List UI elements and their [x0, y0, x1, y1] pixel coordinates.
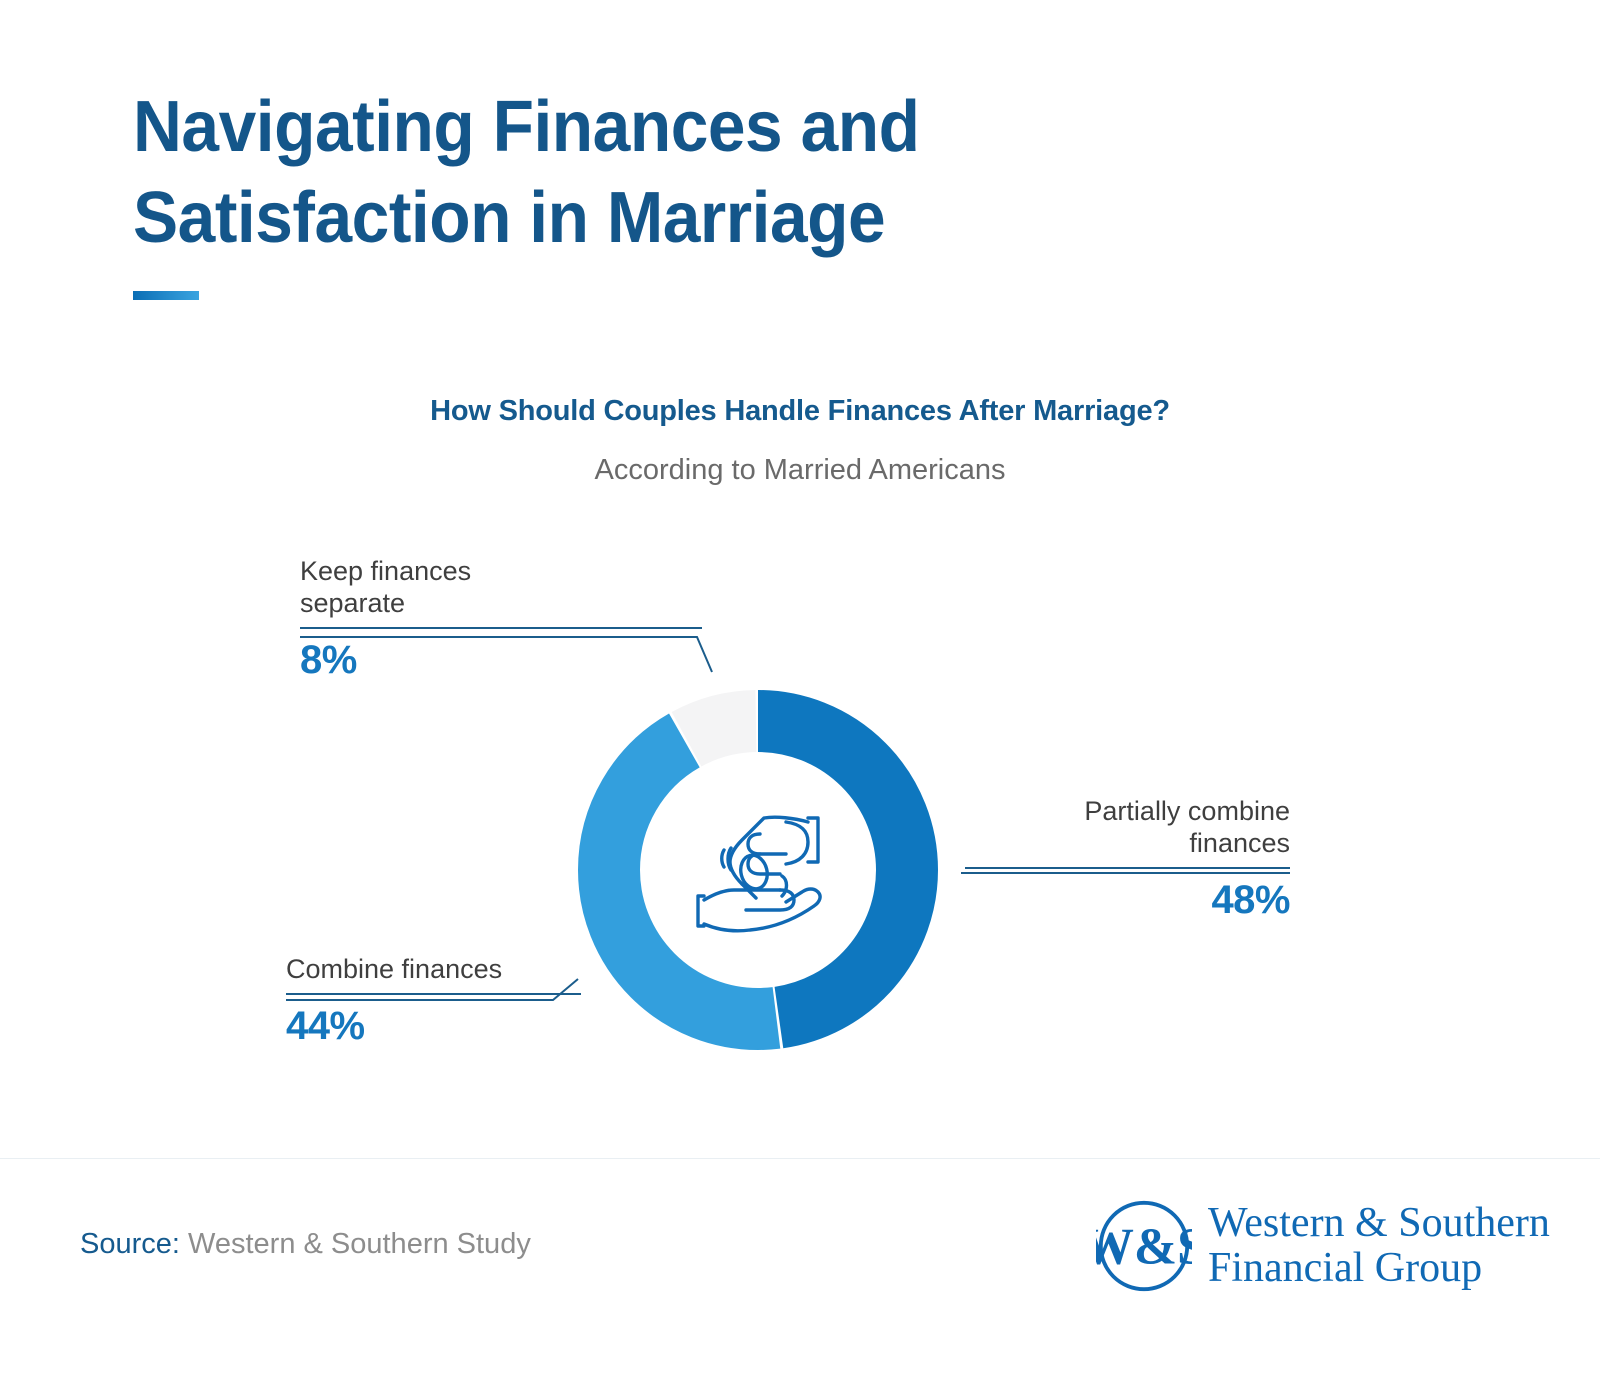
callout-value: 44%: [286, 1004, 581, 1049]
chart-heading: How Should Couples Handle Finances After…: [0, 395, 1600, 487]
chart-title: How Should Couples Handle Finances After…: [0, 395, 1600, 428]
footer-divider: [0, 1158, 1600, 1159]
company-logo: W&S Western & Southern Financial Group: [1096, 1198, 1550, 1294]
callout-label: Keep finances separate: [300, 556, 702, 620]
callout-rule: [286, 993, 581, 995]
source-label: Source:: [80, 1228, 188, 1260]
callout-combine-finances: Combine finances 44%: [286, 954, 581, 1049]
callout-label: Combine finances: [286, 954, 581, 986]
callout-rule: [965, 867, 1290, 869]
infographic-page: Navigating Finances and Satisfaction in …: [0, 0, 1600, 1378]
callout-value: 48%: [965, 878, 1290, 923]
title-accent-rule: [133, 291, 199, 300]
source-text: Western & Southern Study: [188, 1228, 531, 1260]
header: Navigating Finances and Satisfaction in …: [133, 82, 1233, 300]
ws-monogram-icon: W&S: [1096, 1198, 1192, 1294]
logo-wordmark: Western & Southern Financial Group: [1208, 1201, 1550, 1290]
svg-text:W&S: W&S: [1096, 1218, 1192, 1275]
callout-rule: [300, 627, 702, 629]
source-attribution: Source: Western & Southern Study: [80, 1228, 531, 1261]
donut-chart: [548, 660, 968, 1080]
callout-partially-combine-finances: Partially combine finances 48%: [965, 796, 1290, 923]
hands-giving-receiving-icon: [690, 804, 830, 936]
chart-subtitle: According to Married Americans: [0, 454, 1600, 487]
callout-value: 8%: [300, 638, 702, 683]
callout-keep-finances-separate: Keep finances separate 8%: [300, 556, 702, 683]
callout-label: Partially combine finances: [965, 796, 1290, 860]
page-title: Navigating Finances and Satisfaction in …: [133, 82, 1167, 265]
